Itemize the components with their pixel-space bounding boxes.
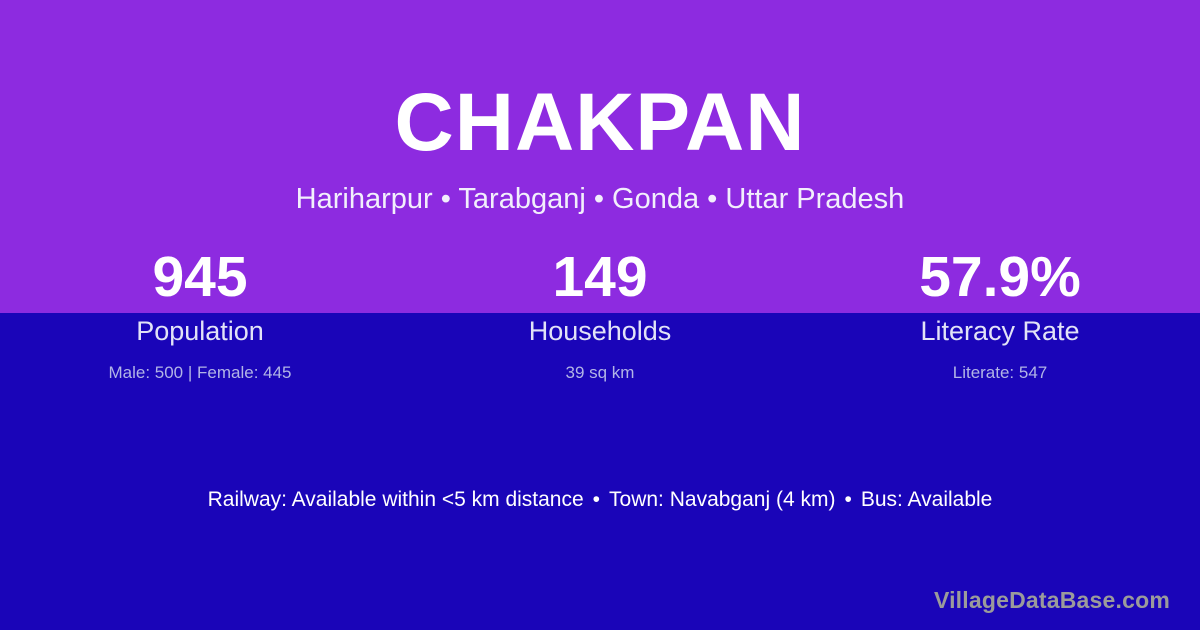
stat-label: Population (0, 314, 400, 349)
stat-value: 945 (0, 246, 400, 313)
stat-label: Literacy Rate (800, 314, 1200, 349)
stat-value: 149 (400, 246, 800, 313)
card-content: CHAKPAN Hariharpur • Tarabganj • Gonda •… (0, 0, 1200, 630)
stat-households: 149 Households 39 sq km (400, 246, 800, 384)
stat-label: Households (400, 314, 800, 349)
breadcrumb: Hariharpur • Tarabganj • Gonda • Uttar P… (0, 182, 1200, 217)
page-title: CHAKPAN (0, 82, 1200, 164)
bullet-separator-icon: • (835, 486, 860, 513)
stat-population: 945 Population Male: 500 | Female: 445 (0, 246, 400, 384)
stat-literacy-rate: 57.9% Literacy Rate Literate: 547 (800, 246, 1200, 384)
stats-row: 945 Population Male: 500 | Female: 445 1… (0, 246, 1200, 384)
village-info-card: CHAKPAN Hariharpur • Tarabganj • Gonda •… (0, 0, 1200, 630)
site-watermark: VillageDataBase.com (934, 587, 1170, 614)
stat-subtext: Literate: 547 (800, 362, 1200, 384)
stat-subtext: 39 sq km (400, 362, 800, 384)
railway-fact: Railway: Available within <5 km distance (208, 488, 584, 511)
bus-fact: Bus: Available (861, 488, 993, 511)
stat-value: 57.9% (800, 246, 1200, 313)
bullet-separator-icon: • (584, 486, 609, 513)
stat-subtext: Male: 500 | Female: 445 (0, 362, 400, 384)
amenities-line: Railway: Available within <5 km distance… (0, 486, 1200, 513)
town-fact: Town: Navabganj (4 km) (609, 488, 835, 511)
